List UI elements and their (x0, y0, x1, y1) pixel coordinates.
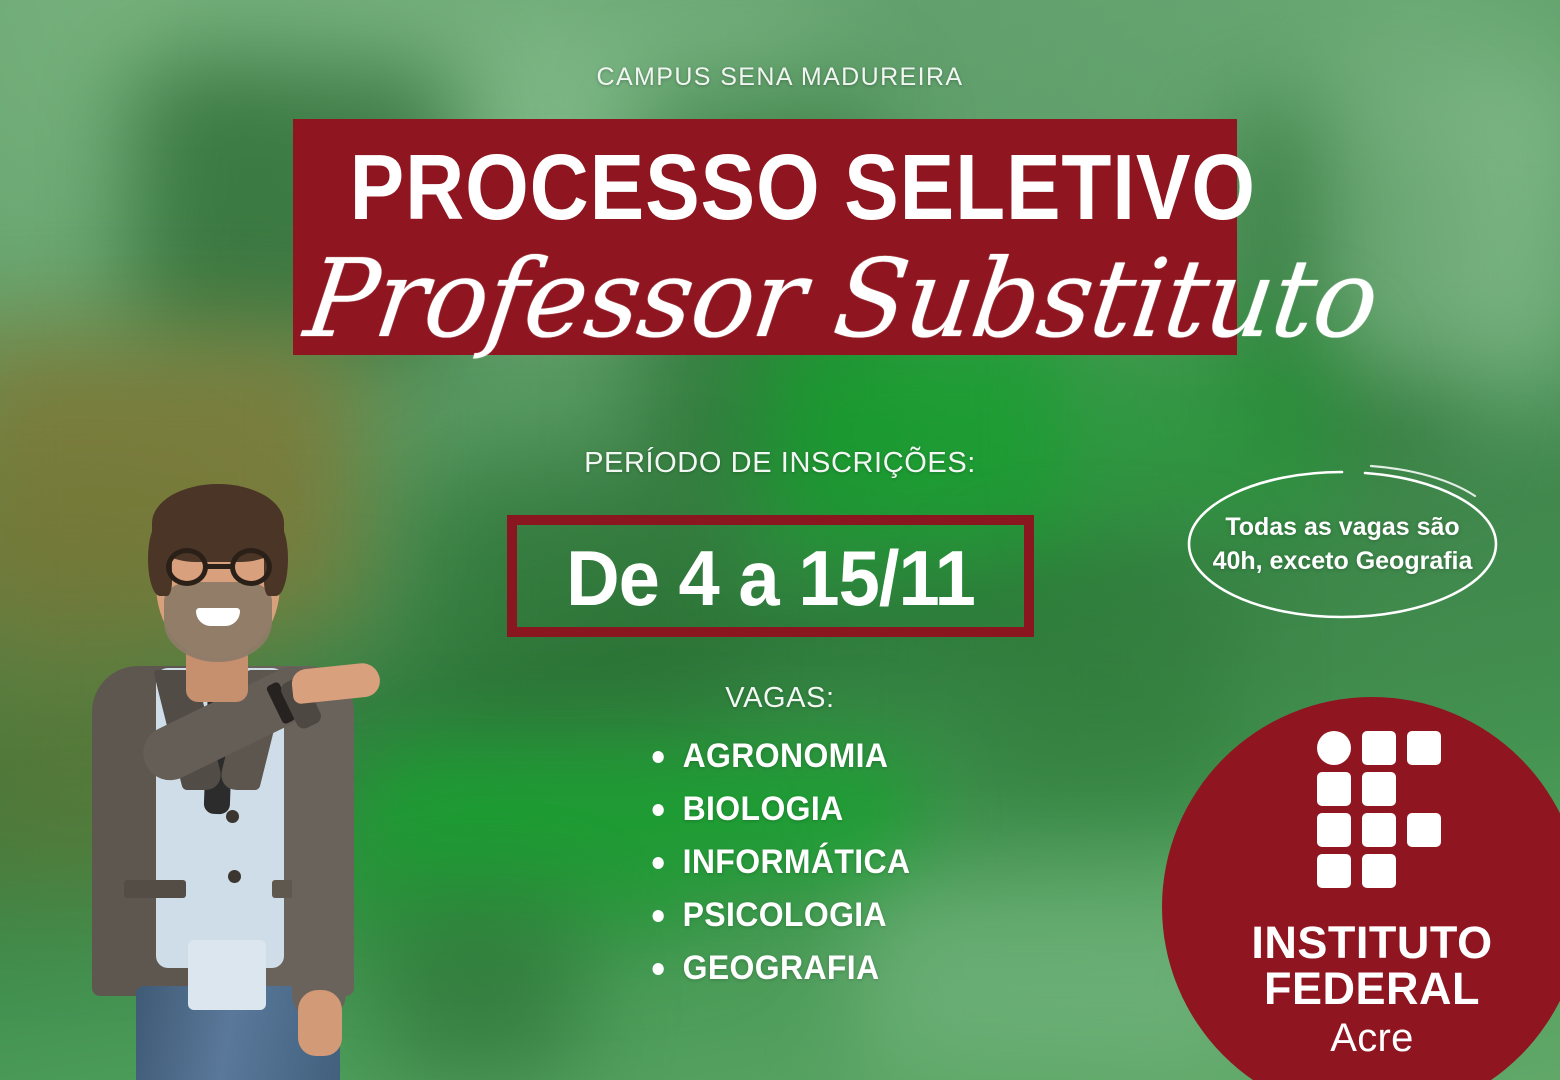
list-item: INFORMÁTICA (645, 843, 910, 882)
list-item: GEOGRAFIA (645, 949, 910, 988)
jacket-button (228, 870, 241, 883)
poster-canvas: CAMPUS SENA MADUREIRA PROCESSO SELETIVO … (0, 0, 1560, 1080)
bullet-icon (653, 910, 664, 922)
list-item: BIOLOGIA (645, 790, 910, 829)
page-subtitle-script: Professor Substituto (299, 243, 1231, 356)
bullet-icon (653, 751, 664, 763)
glasses-lens-left (166, 548, 208, 586)
glasses-lens-right (230, 548, 272, 586)
smile (196, 608, 240, 626)
shirt-lower (188, 940, 266, 1010)
arm-right (292, 770, 346, 1020)
logo-line-acre: Acre (1162, 1018, 1560, 1059)
background-blur-shape (380, 900, 580, 1080)
list-item: PSICOLOGIA (645, 896, 910, 935)
logo-cell (1362, 813, 1396, 847)
workload-note: Todas as vagas são 40h, exceto Geografia (1175, 458, 1510, 630)
jacket-button (226, 810, 239, 823)
list-item-label: GEOGRAFIA (683, 949, 880, 987)
list-item-label: BIOLOGIA (683, 790, 844, 828)
glasses-bridge (206, 564, 232, 569)
presenter-photo (40, 470, 410, 1080)
logo-cell (1407, 731, 1441, 765)
logo-cell (1407, 813, 1441, 847)
bullet-icon (653, 857, 664, 869)
campus-label: CAMPUS SENA MADUREIRA (0, 63, 1560, 92)
bullet-icon (653, 963, 664, 975)
jacket-pocket (124, 880, 186, 898)
logo-cell (1317, 772, 1351, 806)
logo-cell (1317, 854, 1351, 888)
instituto-federal-mark-icon (1317, 731, 1441, 889)
list-item-label: INFORMÁTICA (683, 843, 911, 881)
list-item-label: AGRONOMIA (683, 737, 889, 775)
hand-right (298, 990, 342, 1056)
logo-cell (1317, 813, 1351, 847)
logo-line-instituto: INSTITUTO (1162, 920, 1560, 966)
list-item: AGRONOMIA (645, 737, 910, 776)
date-range: De 4 a 15/11 (520, 528, 1021, 628)
workload-note-line1: Todas as vagas são (1225, 510, 1459, 544)
bullet-icon (653, 804, 664, 816)
logo-cell (1362, 772, 1396, 806)
logo-line-federal: FEDERAL (1162, 966, 1560, 1012)
vagas-list: AGRONOMIA BIOLOGIA INFORMÁTICA PSICOLOGI… (645, 737, 927, 1002)
workload-note-line2: 40h, exceto Geografia (1213, 544, 1473, 578)
list-item-label: PSICOLOGIA (683, 896, 887, 934)
logo-cell (1362, 854, 1396, 888)
logo-cell-circle (1317, 731, 1351, 765)
page-title: PROCESSO SELETIVO (350, 141, 1181, 234)
workload-note-text: Todas as vagas são 40h, exceto Geografia (1175, 458, 1510, 630)
logo-cell (1362, 731, 1396, 765)
logo-wordmark: INSTITUTO FEDERAL Acre (1162, 920, 1560, 1059)
